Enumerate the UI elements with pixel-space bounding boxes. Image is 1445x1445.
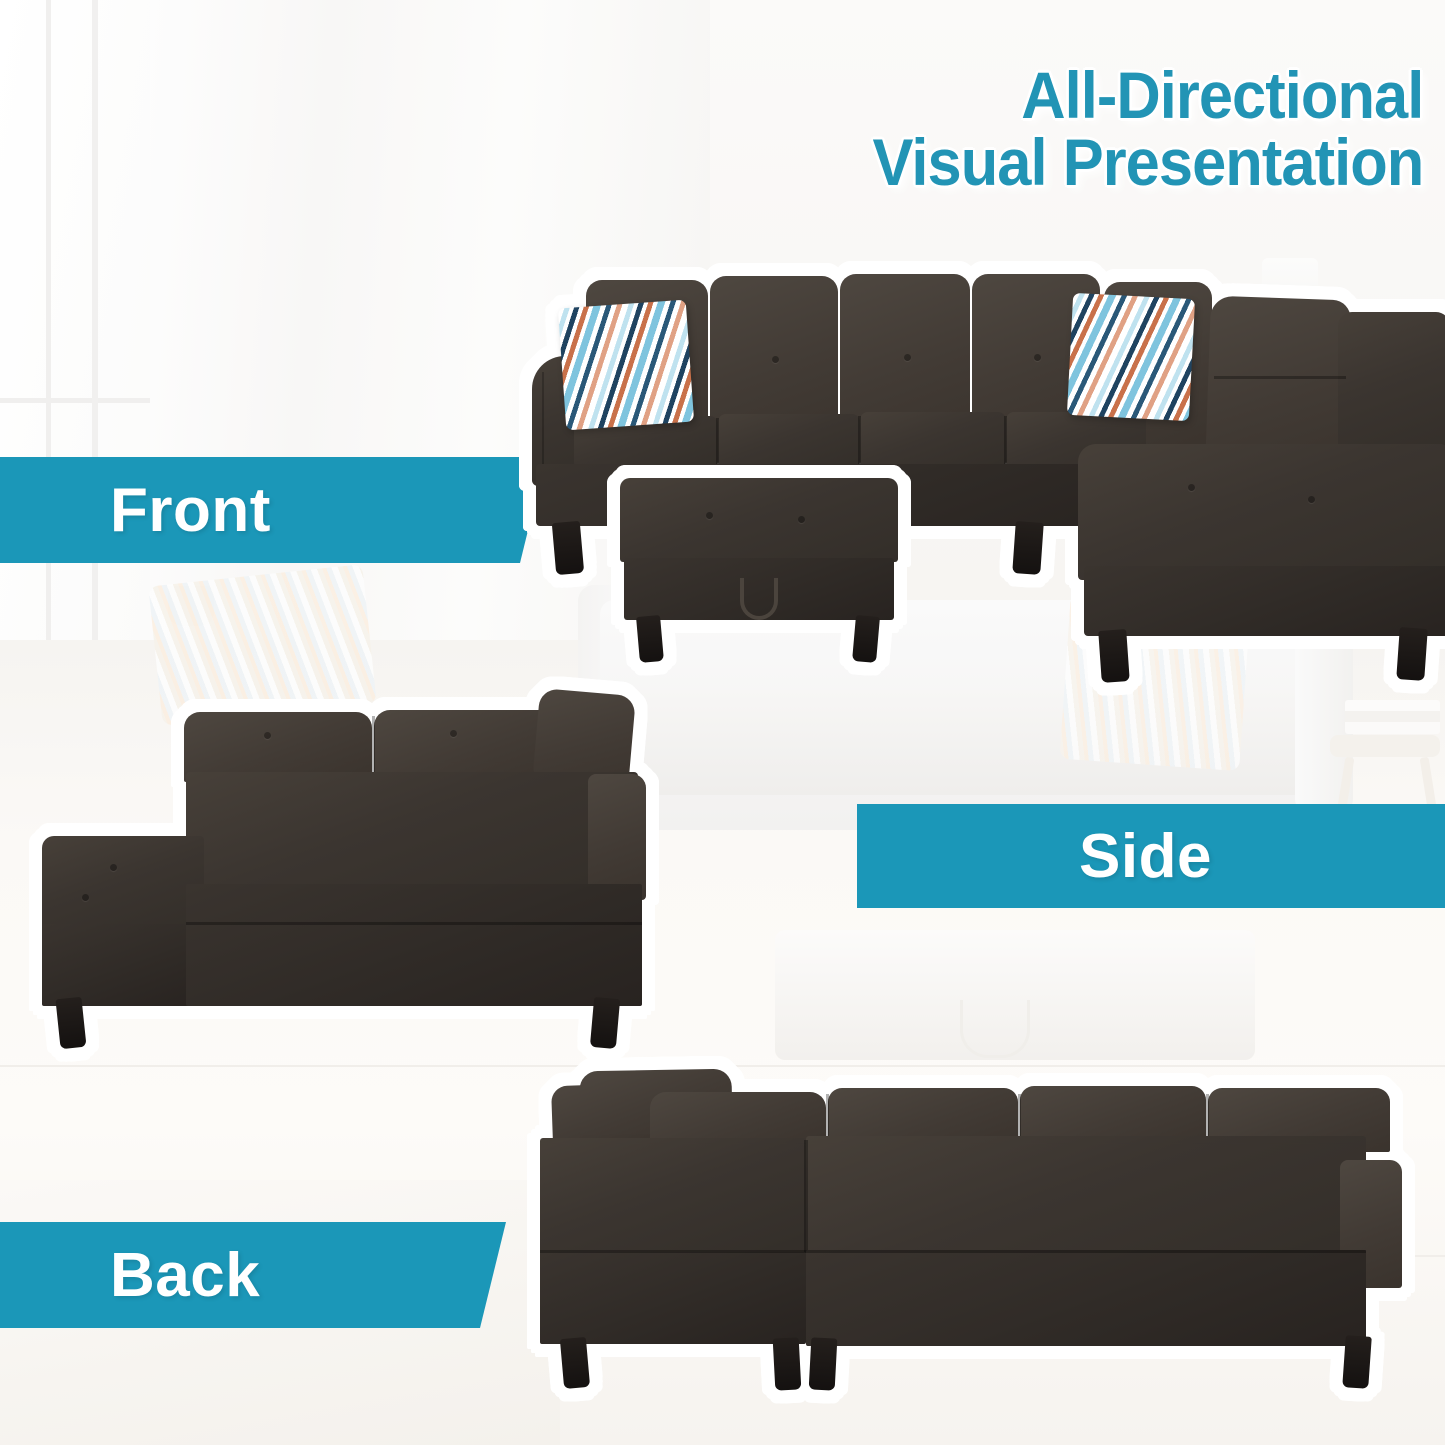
tuft bbox=[772, 356, 779, 363]
ottoman-leg bbox=[852, 615, 880, 663]
base-seam bbox=[186, 922, 642, 925]
tuft bbox=[450, 730, 457, 737]
tuft bbox=[1188, 484, 1195, 491]
chaise-back-panel bbox=[1338, 312, 1445, 462]
chaise-leg bbox=[1098, 629, 1130, 683]
tuft bbox=[1034, 354, 1041, 361]
view-label-front: Front bbox=[0, 457, 546, 563]
view-label-back: Back bbox=[0, 1222, 506, 1328]
sofa-back-panel-right bbox=[806, 1136, 1366, 1256]
tuft bbox=[1308, 496, 1315, 503]
chaise-extension-seat bbox=[42, 836, 204, 932]
product-side-view bbox=[36, 676, 666, 1046]
cushion-seam bbox=[372, 716, 375, 780]
headline-line-1: All-Directional bbox=[1021, 58, 1423, 132]
sofa-leg bbox=[1012, 521, 1044, 575]
ottoman-pull-strap bbox=[740, 578, 778, 620]
back-leg bbox=[809, 1337, 838, 1390]
page-title: All-Directional Visual Presentation bbox=[872, 62, 1423, 197]
side-leg bbox=[55, 997, 86, 1049]
background-side-table bbox=[1330, 735, 1440, 757]
ottoman-top bbox=[620, 478, 898, 562]
chaise-extension-base bbox=[42, 924, 204, 1006]
seat-seam bbox=[858, 416, 861, 470]
tuft bbox=[706, 512, 713, 519]
back-leg bbox=[1342, 1335, 1372, 1389]
sofa-arm-right bbox=[588, 774, 646, 900]
arm-seam bbox=[542, 372, 544, 476]
seat-seam bbox=[716, 418, 719, 470]
chaise-leg bbox=[1396, 627, 1428, 681]
sofa-leg bbox=[552, 521, 584, 575]
sofa-back-base-left bbox=[540, 1252, 806, 1344]
product-infographic: All-Directional Visual Presentation Fron… bbox=[0, 0, 1445, 1445]
seat-cushion bbox=[860, 412, 1006, 470]
headline-line-2: Visual Presentation bbox=[872, 129, 1423, 196]
tuft bbox=[110, 864, 117, 871]
back-leg bbox=[560, 1337, 590, 1389]
sofa-back-panel-left bbox=[540, 1138, 806, 1256]
view-label-side: Side bbox=[857, 804, 1445, 908]
view-label-front-text: Front bbox=[110, 475, 271, 546]
accent-pillow-right bbox=[1067, 293, 1195, 421]
side-leg bbox=[590, 997, 620, 1049]
tuft bbox=[798, 516, 805, 523]
base-seam bbox=[540, 1250, 1366, 1253]
chaise-base bbox=[1084, 566, 1445, 636]
seat-seam bbox=[1004, 416, 1007, 470]
view-label-back-text: Back bbox=[110, 1240, 260, 1311]
sofa-back-panel bbox=[186, 772, 638, 888]
background-books bbox=[1345, 700, 1440, 734]
accent-pillow-left bbox=[558, 300, 694, 431]
back-leg bbox=[773, 1337, 802, 1390]
ottoman-leg bbox=[636, 615, 664, 663]
tuft bbox=[82, 894, 89, 901]
background-ottoman-strap bbox=[960, 1000, 1030, 1058]
cushion-seam bbox=[1214, 376, 1346, 379]
seat-cushion bbox=[718, 414, 860, 470]
storage-ottoman-front bbox=[614, 478, 904, 668]
tuft bbox=[904, 354, 911, 361]
tuft bbox=[264, 732, 271, 739]
product-back-view bbox=[528, 1060, 1408, 1405]
sofa-side-base bbox=[186, 884, 642, 1006]
chaise-seat bbox=[1078, 444, 1445, 580]
sofa-back-base-right bbox=[806, 1250, 1366, 1346]
view-label-side-text: Side bbox=[1079, 821, 1212, 892]
